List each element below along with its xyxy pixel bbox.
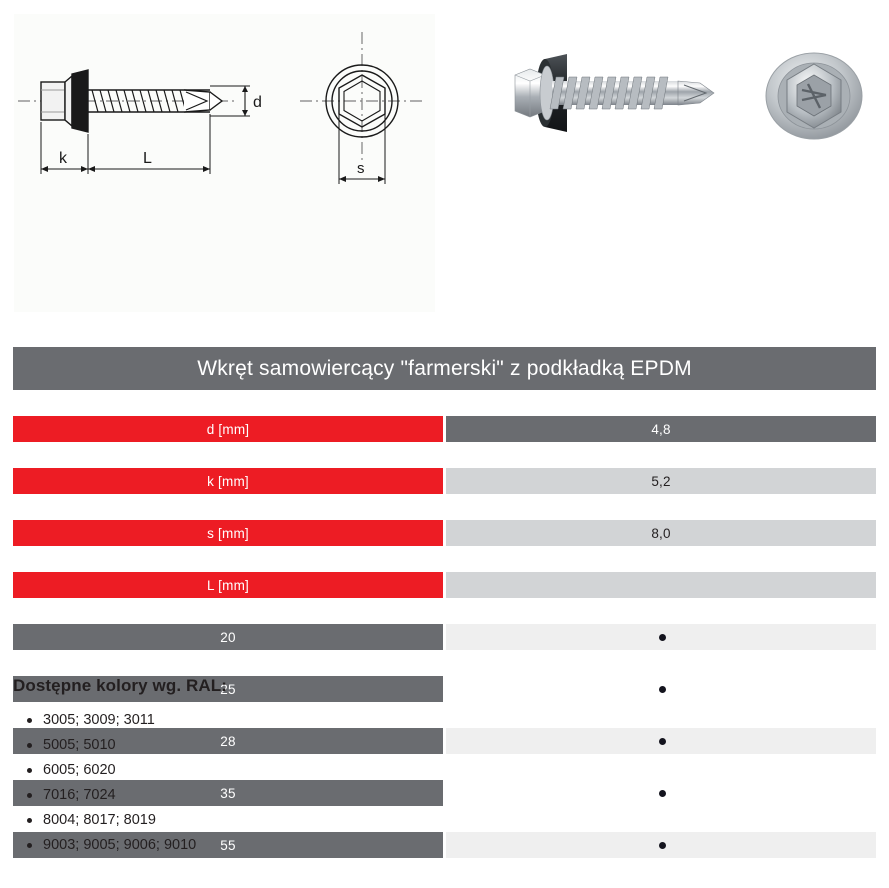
list-item: 8004; 8017; 8019 — [43, 808, 613, 833]
table-row-k: k [mm] 5,2 — [13, 468, 876, 494]
availability-dot-icon — [659, 738, 666, 745]
screw-side-photo-graphic — [452, 33, 734, 151]
screw-side-photo — [452, 33, 734, 151]
row-gap — [13, 598, 876, 624]
list-item: 7016; 7024 — [43, 783, 613, 808]
head-end-view-technical-drawing — [300, 32, 424, 164]
dim-label-k: k — [59, 150, 68, 167]
table-title-row: Wkręt samowiercący "farmerski" z podkład… — [13, 347, 876, 390]
technical-drawings-panel: d k L — [14, 14, 435, 312]
list-item: 6005; 6020 — [43, 758, 613, 783]
dim-label-s: s — [357, 160, 365, 177]
param-label-L: L [mm] — [13, 572, 443, 598]
list-item: 5005; 5010 — [43, 733, 613, 758]
screw-head-top-photo-graphic — [742, 42, 887, 150]
param-label-k: k [mm] — [13, 468, 443, 494]
param-value-s: 8,0 — [446, 520, 876, 546]
dim-label-d: d — [253, 94, 262, 111]
table-row-d: d [mm] 4,8 — [13, 416, 876, 442]
availability-dot-icon — [659, 790, 666, 797]
technical-drawings-svg: d k L — [14, 14, 435, 312]
param-label-d: d [mm] — [13, 416, 443, 442]
param-value-d: 4,8 — [446, 416, 876, 442]
list-item: 3005; 3009; 3011 — [43, 708, 613, 733]
param-value-L — [446, 572, 876, 598]
param-value-k: 5,2 — [446, 468, 876, 494]
length-availability-20 — [446, 624, 876, 650]
row-gap — [13, 650, 876, 676]
availability-dot-icon — [659, 842, 666, 849]
row-gap — [13, 390, 876, 416]
screw-head-top-photo — [742, 42, 887, 150]
list-item: 9003; 9005; 9006; 9010 — [43, 833, 613, 858]
table-title: Wkręt samowiercący "farmerski" z podkład… — [13, 347, 876, 390]
param-label-s: s [mm] — [13, 520, 443, 546]
side-elevation-technical-drawing — [18, 70, 250, 132]
length-label-20: 20 — [13, 624, 443, 650]
table-row-s: s [mm] 8,0 — [13, 520, 876, 546]
ral-heading: Dostępne kolory wg. RAL: — [13, 676, 613, 696]
row-gap — [13, 546, 876, 572]
availability-dot-icon — [659, 686, 666, 693]
ral-colors-section: Dostępne kolory wg. RAL: 3005; 3009; 301… — [13, 676, 613, 858]
ral-color-list: 3005; 3009; 3011 5005; 5010 6005; 6020 7… — [13, 708, 613, 858]
row-gap — [13, 442, 876, 468]
availability-dot-icon — [659, 634, 666, 641]
row-gap — [13, 494, 876, 520]
product-media-strip: d k L — [0, 0, 889, 325]
dim-label-L: L — [143, 150, 152, 167]
table-row-L: L [mm] — [13, 572, 876, 598]
table-row-length-20: 20 — [13, 624, 876, 650]
